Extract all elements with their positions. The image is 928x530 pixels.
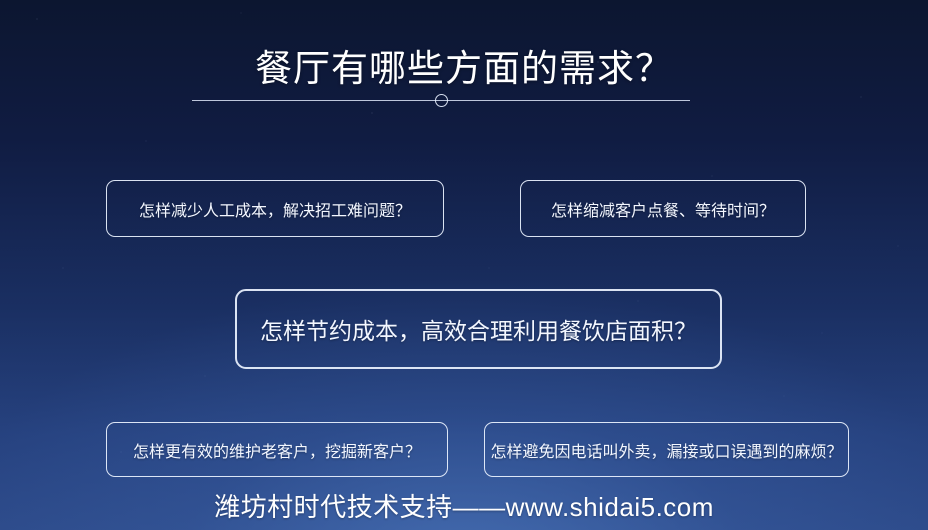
page-title: 餐厅有哪些方面的需求？: [0, 47, 928, 91]
question-card-label: 怎样减少人工成本，解决招工难问题？: [139, 197, 411, 221]
question-card-takeaway[interactable]: 怎样避免因电话叫外卖，漏接或口误遇到的麻烦？: [484, 422, 849, 477]
circle-node-icon: [435, 94, 448, 107]
question-card-label: 怎样缩减客户点餐、等待时间？: [551, 197, 775, 221]
question-card-cost[interactable]: 怎样减少人工成本，解决招工难问题？: [106, 180, 444, 237]
question-card-label: 怎样更有效的维护老客户，挖掘新客户？: [133, 438, 421, 462]
question-card-area-highlighted[interactable]: 怎样节约成本，高效合理利用餐饮店面积？: [235, 289, 722, 369]
title-divider: [192, 94, 690, 107]
presentation-slide: 餐厅有哪些方面的需求？ 怎样减少人工成本，解决招工难问题？ 怎样缩减客户点餐、等…: [0, 0, 928, 530]
footer-credit: 潍坊村时代技术支持——www.shidai5.com: [0, 487, 928, 524]
question-card-label: 怎样节约成本，高效合理利用餐饮店面积？: [260, 312, 697, 346]
question-card-label: 怎样避免因电话叫外卖，漏接或口误遇到的麻烦？: [490, 438, 842, 462]
question-card-customers[interactable]: 怎样更有效的维护老客户，挖掘新客户？: [106, 422, 448, 477]
question-card-order[interactable]: 怎样缩减客户点餐、等待时间？: [520, 180, 806, 237]
